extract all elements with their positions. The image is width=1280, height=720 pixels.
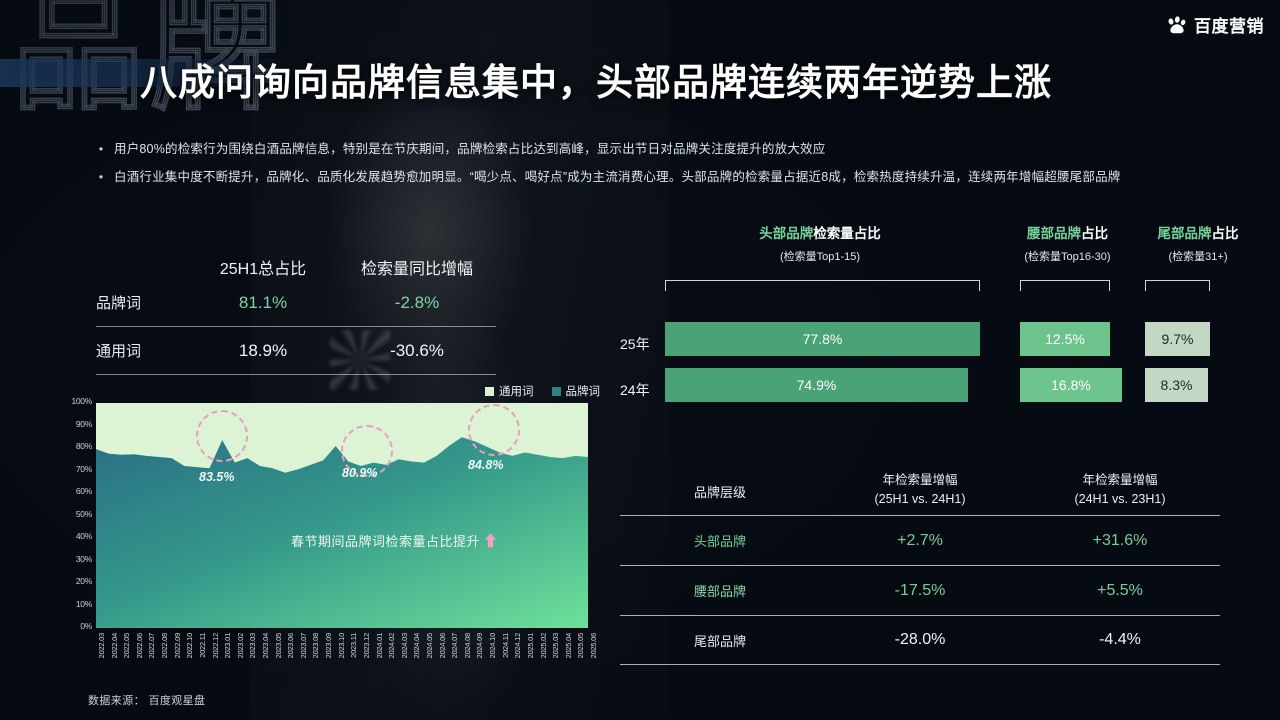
bullet-text: 白酒行业集中度不断提升，品牌化、品质化发展趋势愈加明显。“喝少点、喝好点”成为主… (114, 168, 1120, 186)
x-axis-tick: 2022.07 (147, 633, 156, 658)
row-growth-2: +5.5% (1020, 582, 1220, 600)
x-axis-tick: 2024.10 (488, 633, 497, 658)
table-header-blank (96, 255, 188, 279)
bullet-marker: • (88, 140, 114, 158)
bracket-tail (1145, 280, 1210, 291)
legend-item-general: 通用词 (485, 383, 534, 399)
chart-note: 春节期间品牌词检索量占比提升 (291, 531, 497, 550)
column-header-growth-2-sub: (24H1 vs. 23H1) (1020, 490, 1220, 509)
y-axis-tick: 0% (80, 621, 92, 631)
chart-plot-area: 83.5% 80.9% 84.8% 春节期间品牌词检索量占比提升 (96, 403, 588, 628)
x-axis-tick: 2023.02 (236, 633, 245, 658)
page-title: 八成问询向品牌信息集中，头部品牌连续两年逆势上涨 (140, 52, 1052, 106)
legend-swatch-brand (552, 387, 561, 396)
chart-annotation-3: 84.8% (468, 458, 503, 472)
bar-mid-24: 16.8% (1020, 368, 1122, 402)
y-axis-tick: 40% (76, 531, 92, 541)
bullet-list: • 用户80%的检索行为围绕白酒品牌信息，特别是在节庆期间，品牌检索占比达到高峰… (88, 140, 1258, 196)
row-growth-1: +2.7% (820, 532, 1020, 550)
list-item: • 用户80%的检索行为围绕白酒品牌信息，特别是在节庆期间，品牌检索占比达到高峰… (88, 140, 1258, 158)
x-axis-tick: 2022.03 (97, 633, 106, 658)
legend-label-general: 通用词 (499, 383, 534, 399)
row-yoy-value: -2.8% (338, 293, 496, 313)
group-title-tail-highlight: 尾部品牌 (1158, 226, 1212, 241)
row-share-value: 81.1% (188, 293, 338, 313)
baidu-paw-icon (1166, 14, 1188, 36)
bar-tail-25: 9.7% (1145, 322, 1210, 356)
y-axis-tick: 20% (76, 576, 92, 586)
y-axis-tick: 70% (76, 464, 92, 474)
table-row: 尾部品牌 -28.0% -4.4% (620, 615, 1220, 665)
growth-table: 品牌层级 年检索量增幅 (25H1 vs. 24H1) 年检索量增幅 (24H1… (620, 455, 1220, 665)
table-row: 腰部品牌 -17.5% +5.5% (620, 565, 1220, 615)
logo-label: 百度营销 (1194, 12, 1264, 37)
group-title-head-rest: 检索量占比 (813, 226, 881, 241)
column-header-growth-1: 年检索量增幅 (25H1 vs. 24H1) (820, 471, 1020, 515)
x-axis-tick: 2023.10 (337, 633, 346, 658)
bar-tail-24: 8.3% (1145, 368, 1208, 402)
table-row: 头部品牌 +2.7% +31.6% (620, 515, 1220, 565)
x-axis-tick: 2024.07 (450, 633, 459, 658)
group-title-mid: 腰部品牌占比 (1000, 222, 1135, 242)
row-tier-label: 头部品牌 (620, 531, 820, 550)
x-axis-tick: 2025.03 (551, 633, 560, 658)
column-header-growth-1-top: 年检索量增幅 (820, 471, 1020, 490)
chart-annotation-1: 83.5% (199, 470, 234, 484)
bracket-mid (1020, 280, 1110, 291)
chart-annotation-2: 80.9% (342, 466, 377, 480)
x-axis-tick: 2025.06 (589, 633, 598, 658)
table-row: 通用词 18.9% -30.6% (96, 327, 496, 375)
x-axis-tick: 2023.08 (311, 633, 320, 658)
x-axis-tick: 2024.11 (501, 633, 510, 658)
bracket-head (665, 280, 980, 291)
x-axis-tick: 2023.05 (274, 633, 283, 658)
row-label: 品牌词 (96, 292, 188, 313)
group-sub-mid: (检索量Top16-30) (1000, 248, 1135, 264)
group-title-mid-rest: 占比 (1081, 226, 1108, 241)
highlight-circle-3 (468, 404, 520, 456)
y-axis-tick: 60% (76, 486, 92, 496)
y-axis-tick: 30% (76, 554, 92, 564)
x-axis-tick: 2022.11 (198, 633, 207, 658)
column-header-share: 25H1总占比 (188, 255, 338, 279)
column-header-growth-2: 年检索量增幅 (24H1 vs. 23H1) (1020, 471, 1220, 515)
group-title-head: 头部品牌检索量占比 (655, 222, 985, 242)
x-axis-tick: 2022.04 (110, 633, 119, 658)
x-axis-tick: 2023.04 (261, 633, 270, 658)
y-axis-tick: 50% (76, 509, 92, 519)
row-growth-2: -4.4% (1020, 631, 1220, 649)
bar-head-24: 74.9% (665, 368, 968, 402)
chart-note-text: 春节期间品牌词检索量占比提升 (291, 531, 480, 550)
x-axis-tick: 2025.05 (576, 633, 585, 658)
list-item: • 白酒行业集中度不断提升，品牌化、品质化发展趋势愈加明显。“喝少点、喝好点”成… (88, 168, 1258, 186)
group-sub-head: (检索量Top1-15) (655, 248, 985, 264)
brand-logo: 百度营销 (1166, 12, 1264, 37)
x-axis-tick: 2022.10 (185, 633, 194, 658)
x-axis-tick: 2024.03 (400, 633, 409, 658)
column-header-yoy: 检索量同比增幅 (338, 255, 496, 279)
x-axis-tick: 2025.04 (564, 633, 573, 658)
x-axis-tick: 2023.01 (223, 633, 232, 658)
group-title-tail: 尾部品牌占比 (1136, 222, 1260, 242)
bar-row-label-25: 25年 (620, 334, 650, 354)
table-header-row: 25H1总占比 检索量同比增幅 (96, 255, 496, 279)
x-axis-tick: 2022.06 (135, 633, 144, 658)
y-axis-tick: 10% (76, 599, 92, 609)
bullet-text: 用户80%的检索行为围绕白酒品牌信息，特别是在节庆期间，品牌检索占比达到高峰，显… (114, 140, 825, 158)
chart-y-axis: 0%10%20%30%40%50%60%70%80%90%100% (60, 401, 94, 628)
table-row: 品牌词 81.1% -2.8% (96, 279, 496, 327)
column-header-growth-2-top: 年检索量增幅 (1020, 471, 1220, 490)
page-header: 八成问询向品牌信息集中，头部品牌连续两年逆势上涨 百度营销 (0, 0, 1280, 118)
x-axis-tick: 2023.12 (362, 633, 371, 658)
x-axis-tick: 2024.06 (438, 633, 447, 658)
row-tier-label: 尾部品牌 (620, 631, 820, 650)
x-axis-tick: 2023.03 (248, 633, 257, 658)
highlight-circle-1 (196, 410, 248, 462)
group-title-mid-highlight: 腰部品牌 (1027, 226, 1081, 241)
row-yoy-value: -30.6% (338, 341, 496, 361)
bullet-marker: • (88, 168, 114, 186)
x-axis-tick: 2023.11 (349, 633, 358, 658)
column-header-tier: 品牌层级 (620, 482, 820, 515)
brand-share-area-chart: 通用词 品牌词 0%10%20%30%40%50%60%70%80%90%100… (60, 383, 620, 673)
x-axis-tick: 2024.04 (412, 633, 421, 658)
table-header-row: 品牌层级 年检索量增幅 (25H1 vs. 24H1) 年检索量增幅 (24H1… (620, 455, 1220, 515)
row-growth-2: +31.6% (1020, 532, 1220, 550)
y-axis-tick: 90% (76, 419, 92, 429)
x-axis-tick: 2022.08 (160, 633, 169, 658)
group-sub-tail: (检索量31+) (1136, 248, 1260, 264)
row-growth-1: -17.5% (820, 582, 1020, 600)
legend-swatch-general (485, 387, 494, 396)
x-axis-tick: 2024.01 (375, 633, 384, 658)
x-axis-tick: 2024.05 (425, 633, 434, 658)
word-share-table: 25H1总占比 检索量同比增幅 品牌词 81.1% -2.8% 通用词 18.9… (96, 255, 496, 375)
source-note: 数据来源： 百度观星盘 (88, 692, 205, 708)
x-axis-tick: 2024.09 (475, 633, 484, 658)
y-axis-tick: 80% (76, 441, 92, 451)
row-share-value: 18.9% (188, 341, 338, 361)
row-label: 通用词 (96, 340, 188, 361)
pink-up-arrow-icon (484, 533, 497, 548)
legend-label-brand: 品牌词 (566, 383, 601, 399)
x-axis-tick: 2023.07 (299, 633, 308, 658)
x-axis-tick: 2022.05 (122, 633, 131, 658)
x-axis-tick: 2025.01 (526, 633, 535, 658)
x-axis-tick: 2023.09 (324, 633, 333, 658)
group-title-tail-rest: 占比 (1212, 226, 1239, 241)
column-header-growth-1-sub: (25H1 vs. 24H1) (820, 490, 1020, 509)
row-tier-label: 腰部品牌 (620, 581, 820, 600)
x-axis-tick: 2024.12 (513, 633, 522, 658)
x-axis-tick: 2022.12 (211, 633, 220, 658)
chart-legend: 通用词 品牌词 (485, 383, 600, 399)
y-axis-tick: 100% (71, 396, 92, 406)
group-title-head-highlight: 头部品牌 (759, 226, 813, 241)
bar-row-label-24: 24年 (620, 380, 650, 400)
row-growth-1: -28.0% (820, 631, 1020, 649)
x-axis-tick: 2025.02 (539, 633, 548, 658)
x-axis-tick: 2022.09 (173, 633, 182, 658)
bar-head-25: 77.8% (665, 322, 980, 356)
bar-mid-25: 12.5% (1020, 322, 1110, 356)
x-axis-tick: 2023.06 (286, 633, 295, 658)
legend-item-brand: 品牌词 (552, 383, 601, 399)
chart-x-axis: 2022.032022.042022.052022.062022.072022.… (96, 629, 588, 699)
tier-share-panel: 头部品牌检索量占比 (检索量Top1-15) 腰部品牌占比 (检索量Top16-… (620, 222, 1260, 412)
x-axis-tick: 2024.08 (463, 633, 472, 658)
x-axis-tick: 2024.02 (387, 633, 396, 658)
